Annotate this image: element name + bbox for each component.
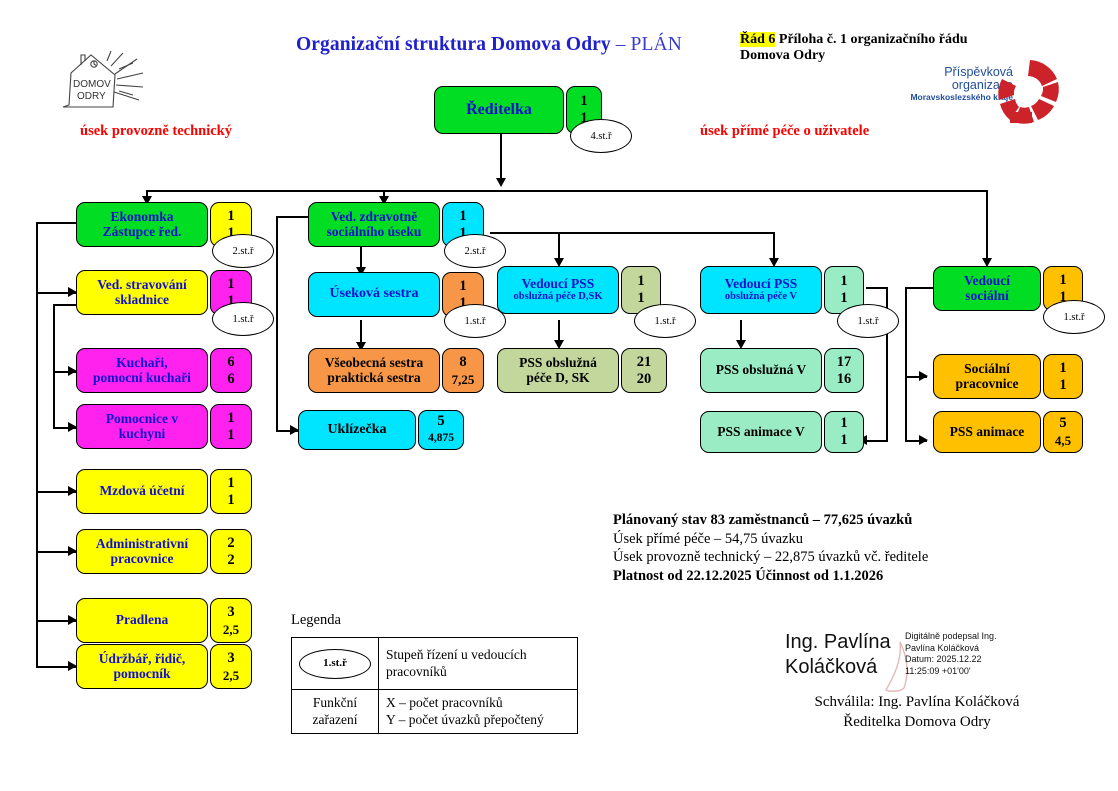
page-title-plain: – PLÁN <box>611 34 682 55</box>
node-pss-head-dsk-label2: obslužná péče D,SK <box>514 291 603 303</box>
connector-economist-left <box>36 222 76 224</box>
node-kitchen-helper-label2: kuchyni <box>119 427 166 442</box>
node-director-label: Ředitelka <box>466 103 532 118</box>
node-cleaner-x: 5 <box>437 413 444 430</box>
degree-badge-economist: 2.st.ř <box>212 234 274 268</box>
node-pss-dsk-y: 20 <box>637 371 652 388</box>
degree-badge-catering-head: 1.st.ř <box>212 302 274 336</box>
signature-meta-line2: Pavlína Koláčková <box>905 643 997 655</box>
node-cleaner-counts: 5 4,875 <box>418 410 464 450</box>
connector-left-bus <box>36 222 38 666</box>
node-pss-v-x: 17 <box>837 354 852 371</box>
node-general-nurse[interactable]: Všeobecná sestra praktická sestra 8 7,25 <box>308 348 484 393</box>
node-cooks-counts: 6 6 <box>210 348 252 393</box>
legend-oval-label: 1.st.ř <box>323 655 347 672</box>
signature-name-line1: Ing. Pavlína <box>785 630 891 655</box>
node-general-nurse-label2: praktická sestra <box>327 371 420 386</box>
connector-catering-left <box>53 304 77 306</box>
node-laundry-label: Pradlena <box>116 613 169 628</box>
legend-function-desc1: X – počet pracovníků <box>386 695 503 710</box>
degree-badge-pss-head-dsk-label: 1.st.ř <box>655 316 676 327</box>
node-general-nurse-label: Všeobecná sestra <box>325 356 424 371</box>
node-cooks-y: 6 <box>227 371 234 388</box>
node-kitchen-helper-y: 1 <box>227 427 234 444</box>
node-payroll-y: 1 <box>227 492 234 509</box>
summary-block: Plánovaný stav 83 zaměstnanců – 77,625 ú… <box>613 511 928 585</box>
node-maintenance-y: 2,5 <box>223 667 239 684</box>
legend-function-label: Funkční zařazení <box>292 690 379 734</box>
connector-cleaner-bus <box>276 216 278 430</box>
connector-social-left <box>905 287 933 289</box>
legend-title: Legenda <box>291 612 341 629</box>
node-pss-head-v-label2: obslužná péče V <box>725 291 797 303</box>
node-admin[interactable]: Administrativní pracovnice 2 2 <box>76 529 252 574</box>
approval-line2: Ředitelka Domova Odry <box>772 712 1062 732</box>
approval-line1: Schválila: Ing. Pavlína Koláčková <box>772 692 1062 712</box>
node-pss-dsk-label2: péče D, SK <box>526 371 589 386</box>
node-laundry[interactable]: Pradlena 3 2,5 <box>76 598 252 643</box>
node-economist-label2: Zástupce řed. <box>103 225 182 240</box>
node-maintenance-counts: 3 2,5 <box>210 644 252 689</box>
connector-catering-bus <box>53 304 55 427</box>
node-pss-anim-label: PSS animace <box>950 425 1025 440</box>
node-health-head-x: 1 <box>459 208 466 225</box>
node-cooks-x: 6 <box>227 354 234 371</box>
node-catering-head-label: Ved. stravování <box>97 278 187 293</box>
node-payroll-label: Mzdová účetní <box>99 484 184 499</box>
node-pss-head-dsk[interactable]: Vedoucí PSS obslužná péče D,SK 1 1 <box>497 266 661 314</box>
degree-badge-health-head: 2.st.ř <box>444 234 506 268</box>
degree-badge-social-head: 1.st.ř <box>1043 300 1105 334</box>
node-ward-nurse-label: Úseková sestra <box>329 287 418 302</box>
summary-line1: Plánovaný stav 83 zaměstnanců – 77,625 ú… <box>613 511 928 530</box>
legend-function-label1: Funkční <box>313 695 357 710</box>
arrow-pss-anim <box>919 435 928 445</box>
node-maintenance-label2: pomocník <box>113 667 170 682</box>
node-cleaner-label: Uklízečka <box>327 423 386 438</box>
node-pss-dsk[interactable]: PSS obslužná péče D, SK 21 20 <box>497 348 667 393</box>
node-pss-head-v-y: 1 <box>840 290 847 307</box>
legend-degree-desc: Stupeň řízení u vedoucích pracovníků <box>379 638 578 690</box>
document-reference: Řád 6 Příloha č. 1 organizačního řádu <box>740 31 968 48</box>
node-pss-anim-v-label: PSS animace V <box>717 425 805 440</box>
node-pss-head-dsk-x: 1 <box>637 273 644 290</box>
summary-line2: Úsek přímé péče – 54,75 úvazku <box>613 530 928 549</box>
node-laundry-x: 3 <box>227 604 234 621</box>
msk-segmented-arc-icon <box>890 57 1065 125</box>
node-pss-head-dsk-label: Vedoucí PSS <box>522 277 595 292</box>
house-logo-line2: ODRY <box>77 91 106 102</box>
signature-metadata: Digitálně podepsal Ing. Pavlína Koláčkov… <box>905 631 997 677</box>
node-general-nurse-y: 7,25 <box>452 371 475 388</box>
node-payroll-x: 1 <box>227 475 234 492</box>
node-maintenance-x: 3 <box>227 650 234 667</box>
node-pss-anim-y: 4,5 <box>1055 432 1071 449</box>
signature-meta-line4: 11:25:09 +01'00' <box>905 666 997 678</box>
degree-badge-ward-nurse: 1.st.ř <box>444 304 506 338</box>
summary-line4: Platnost od 22.12.2025 Účinnost od 1.1.2… <box>613 567 928 586</box>
legend-degree-oval: 1.st.ř <box>299 649 371 679</box>
node-pss-head-v[interactable]: Vedoucí PSS obslužná péče V 1 1 <box>700 266 864 314</box>
node-cooks-label2: pomocní kuchaři <box>93 371 191 386</box>
node-pss-anim-x: 5 <box>1059 415 1066 432</box>
node-kitchen-helper-counts: 1 1 <box>210 404 252 449</box>
node-director-x: 1 <box>580 93 587 110</box>
node-cooks[interactable]: Kuchaři, pomocní kuchaři 6 6 <box>76 348 252 393</box>
degree-badge-pss-head-v-label: 1.st.ř <box>858 316 879 327</box>
org-chart-page: Organizační struktura Domova Odry – PLÁN… <box>0 0 1118 791</box>
node-admin-label2: pracovnice <box>111 552 174 567</box>
node-pss-head-v-label: Vedoucí PSS <box>725 277 798 292</box>
node-kitchen-helper-label: Pomocnice v <box>106 412 178 427</box>
node-social-worker-label2: pracovnice <box>956 377 1019 392</box>
legend-function-desc2: Y – počet úvazků přepočtený <box>386 712 544 727</box>
degree-badge-pss-head-v: 1.st.ř <box>837 304 899 338</box>
reference-rest: Příloha č. 1 organizačního řádu <box>775 32 967 47</box>
degree-badge-director: 4.st.ř <box>570 119 632 153</box>
degree-badge-pss-head-dsk: 1.st.ř <box>634 304 696 338</box>
section-label-direct-care: úsek přímé péče o uživatele <box>700 123 869 140</box>
connector-director-down <box>500 134 502 182</box>
node-payroll[interactable]: Mzdová účetní 1 1 <box>76 469 252 514</box>
node-social-worker-counts: 1 1 <box>1043 354 1083 399</box>
node-kitchen-helper-x: 1 <box>227 410 234 427</box>
node-admin-counts: 2 2 <box>210 529 252 574</box>
house-logo-line1: DOMOV <box>73 79 111 90</box>
legend-oval-cell: 1.st.ř <box>292 638 379 690</box>
node-social-worker[interactable]: Sociální pracovnice 1 1 <box>933 354 1083 399</box>
node-pss-v-counts: 17 16 <box>824 348 864 393</box>
node-economist-label: Ekonomka <box>110 210 173 225</box>
node-pss-dsk-x: 21 <box>637 354 652 371</box>
section-label-operations: úsek provozně technický <box>80 123 232 140</box>
node-laundry-counts: 3 2,5 <box>210 598 252 643</box>
node-pss-dsk-counts: 21 20 <box>621 348 667 393</box>
node-payroll-counts: 1 1 <box>210 469 252 514</box>
node-cleaner-y: 4,875 <box>428 430 454 447</box>
node-laundry-y: 2,5 <box>223 621 239 638</box>
legend-function-desc: X – počet pracovníků Y – počet úvazků př… <box>379 690 578 734</box>
domov-odry-logo: DOMOV ODRY <box>57 47 149 113</box>
node-maintenance[interactable]: Údržbář, řidič, pomocník 3 2,5 <box>76 644 252 689</box>
legend-row-degree: 1.st.ř Stupeň řízení u vedoucích pracovn… <box>292 638 578 690</box>
node-admin-y: 2 <box>227 552 234 569</box>
legend-row-function: Funkční zařazení X – počet pracovníků Y … <box>292 690 578 734</box>
node-pss-anim-v-y: 1 <box>840 432 847 449</box>
node-admin-x: 2 <box>227 535 234 552</box>
degree-badge-health-head-label: 2.st.ř <box>465 246 486 257</box>
node-pss-anim-v-counts: 1 1 <box>824 411 864 453</box>
degree-badge-social-head-label: 1.st.ř <box>1064 312 1085 323</box>
signature-name: Ing. Pavlína Koláčková <box>785 630 891 680</box>
node-pss-head-dsk-y: 1 <box>637 290 644 307</box>
node-general-nurse-x: 8 <box>459 354 466 371</box>
arrow-director-down <box>496 178 506 187</box>
page-title-bold: Organizační struktura Domova Odry <box>296 34 611 55</box>
degree-badge-catering-head-label: 1.st.ř <box>233 314 254 325</box>
legend-function-label2: zařazení <box>313 712 358 727</box>
node-catering-head-label2: skladnice <box>115 293 169 308</box>
node-pss-anim[interactable]: PSS animace 5 4,5 <box>933 411 1083 453</box>
node-social-head-label2: sociální <box>965 289 1009 304</box>
node-social-worker-y: 1 <box>1059 377 1066 394</box>
node-social-head-label: Vedoucí <box>964 274 1010 289</box>
node-admin-label: Administrativní <box>96 537 188 552</box>
node-maintenance-label: Údržbář, řidič, <box>99 652 186 667</box>
reference-highlight: Řád 6 <box>740 32 775 47</box>
node-pss-anim-v[interactable]: PSS animace V 1 1 <box>700 411 864 453</box>
connector-pss-bus <box>490 232 773 234</box>
node-ward-nurse-x: 1 <box>459 278 466 295</box>
node-social-worker-x: 1 <box>1059 360 1066 377</box>
node-pss-v-label: PSS obslužná V <box>716 363 807 378</box>
signature-meta-line3: Datum: 2025.12.22 <box>905 654 997 666</box>
node-health-head-label: Ved. zdravotně <box>331 210 418 225</box>
page-title: Organizační struktura Domova Odry – PLÁN <box>296 34 682 56</box>
connector-main-bus <box>146 190 986 192</box>
node-pss-anim-v-x: 1 <box>840 415 847 432</box>
node-economist-x: 1 <box>227 208 234 225</box>
connector-bus-drop-social <box>986 190 988 260</box>
node-pss-v[interactable]: PSS obslužná V 17 16 <box>700 348 864 393</box>
node-general-nurse-counts: 8 7,25 <box>442 348 484 393</box>
node-cooks-label: Kuchaři, <box>116 356 167 371</box>
degree-badge-director-label: 4.st.ř <box>591 131 612 142</box>
node-cleaner[interactable]: Uklízečka 5 4,875 <box>298 410 464 450</box>
node-pss-anim-counts: 5 4,5 <box>1043 411 1083 453</box>
node-social-head-x: 1 <box>1059 272 1066 289</box>
document-reference-line2: Domova Odry <box>740 48 825 64</box>
node-pss-dsk-label: PSS obslužná <box>519 356 597 371</box>
node-social-worker-label: Sociální <box>964 362 1010 377</box>
node-catering-head-x: 1 <box>227 276 234 293</box>
signature-meta-line1: Digitálně podepsal Ing. <box>905 631 997 643</box>
connector-health-left <box>276 216 308 218</box>
connector-social-bus <box>905 287 907 442</box>
connector-pssv-right <box>866 287 888 289</box>
node-pss-head-v-x: 1 <box>840 273 847 290</box>
signature-name-line2: Koláčková <box>785 655 891 680</box>
node-health-head-label2: sociálního úseku <box>327 225 422 240</box>
summary-line3: Úsek provozně technický – 22,875 úvazků … <box>613 548 928 567</box>
node-pss-v-y: 16 <box>837 371 852 388</box>
node-kitchen-helper[interactable]: Pomocnice v kuchyni 1 1 <box>76 404 252 449</box>
approval-block: Schválila: Ing. Pavlína Koláčková Ředite… <box>772 692 1062 732</box>
degree-badge-economist-label: 2.st.ř <box>233 246 254 257</box>
legend-table: 1.st.ř Stupeň řízení u vedoucích pracovn… <box>291 637 578 734</box>
degree-badge-ward-nurse-label: 1.st.ř <box>465 316 486 327</box>
arrow-social-worker <box>919 371 928 381</box>
